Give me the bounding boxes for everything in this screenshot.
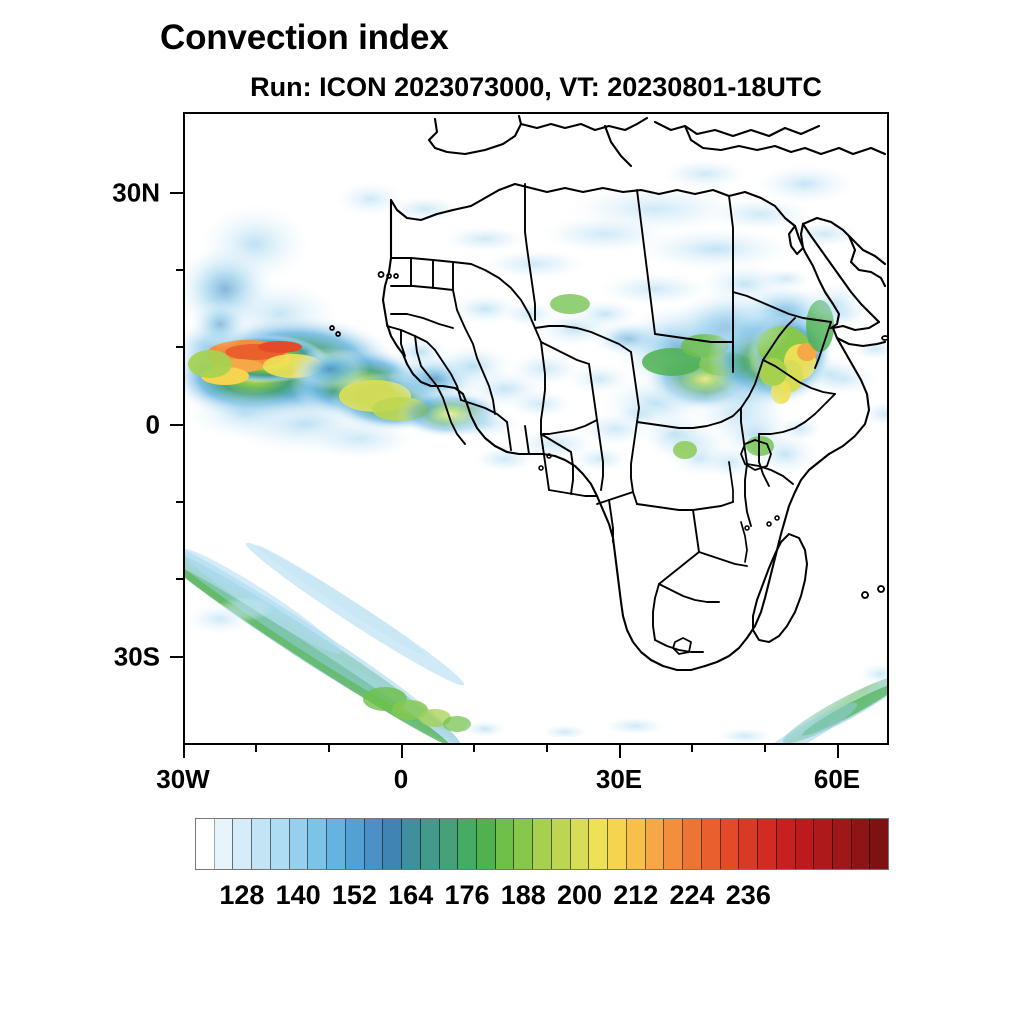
y-axis-label-0: 30N	[98, 178, 160, 209]
colorbar-cell-2	[233, 819, 252, 869]
colorbar-tick-128: 128	[219, 880, 264, 911]
colorbar-cell-4	[271, 819, 290, 869]
colorbar-cell-5	[290, 819, 309, 869]
x-axis-label-2: 30E	[596, 764, 642, 795]
colorbar-cell-25	[664, 819, 683, 869]
x-tick-minor-10E	[473, 745, 475, 752]
colorbar-cell-8	[346, 819, 365, 869]
colorbar-tick-152: 152	[332, 880, 377, 911]
colorbar-cell-1	[215, 819, 234, 869]
colorbar-tick-188: 188	[501, 880, 546, 911]
y-tick-minor-10S	[176, 501, 183, 503]
x-tick-minor-50E	[764, 745, 766, 752]
colorbar-tick-212: 212	[613, 880, 658, 911]
y-axis-label-1: 0	[98, 410, 160, 441]
y-tick-minor-20N	[176, 269, 183, 271]
x-axis-label-0: 30W	[156, 764, 209, 795]
map-plot-area[interactable]	[183, 112, 889, 745]
colorbar-cell-10	[383, 819, 402, 869]
colorbar-cell-23	[627, 819, 646, 869]
colorbar-cell-0	[196, 819, 215, 869]
colorbar-cell-29	[739, 819, 758, 869]
colorbar-cell-17	[514, 819, 533, 869]
field-south-atlantic-front	[185, 524, 507, 743]
x-tick-minor-20W	[255, 745, 257, 752]
colorbar-cell-12	[421, 819, 440, 869]
colorbar-cell-9	[365, 819, 384, 869]
colorbar-cell-33	[814, 819, 833, 869]
colorbar-tick-236: 236	[726, 880, 771, 911]
colorbar-cell-26	[683, 819, 702, 869]
y-tick-major-30S	[170, 656, 183, 658]
colorbar-cell-11	[402, 819, 421, 869]
colorbar-cell-24	[646, 819, 665, 869]
colorbar[interactable]	[195, 818, 889, 870]
colorbar-cell-16	[496, 819, 515, 869]
map-canvas	[185, 114, 887, 743]
x-tick-major-0	[401, 745, 403, 758]
x-tick-major-60E	[837, 745, 839, 758]
x-axis-label-1: 0	[394, 764, 408, 795]
colorbar-tick-164: 164	[388, 880, 433, 911]
colorbar-tick-176: 176	[444, 880, 489, 911]
colorbar-cell-35	[852, 819, 871, 869]
colorbar-cell-20	[571, 819, 590, 869]
convection-index-field	[185, 158, 887, 743]
x-tick-major-30W	[183, 745, 185, 758]
colorbar-tick-200: 200	[557, 880, 602, 911]
figure-subtitle: Run: ICON 2023073000, VT: 20230801-18UTC	[183, 72, 889, 103]
colorbar-cell-32	[796, 819, 815, 869]
colorbar-cell-30	[758, 819, 777, 869]
y-tick-major-0	[170, 424, 183, 426]
colorbar-cell-28	[721, 819, 740, 869]
colorbar-cell-18	[533, 819, 552, 869]
colorbar-cell-7	[327, 819, 346, 869]
x-tick-minor-10W	[328, 745, 330, 752]
y-tick-minor-20S	[176, 578, 183, 580]
colorbar-cell-3	[252, 819, 271, 869]
colorbar-cell-31	[777, 819, 796, 869]
x-tick-major-30E	[619, 745, 621, 758]
colorbar-cell-36	[870, 819, 888, 869]
colorbar-cell-27	[702, 819, 721, 869]
page-title: Convection index	[160, 18, 449, 58]
convection-index-figure: Convection index Run: ICON 2023073000, V…	[0, 0, 1024, 1024]
y-tick-major-30N	[170, 192, 183, 194]
colorbar-tick-224: 224	[670, 880, 715, 911]
x-tick-minor-20E	[546, 745, 548, 752]
colorbar-cell-15	[477, 819, 496, 869]
x-tick-minor-40E	[691, 745, 693, 752]
colorbar-cell-14	[458, 819, 477, 869]
colorbar-cell-19	[552, 819, 571, 869]
colorbar-cell-6	[308, 819, 327, 869]
colorbar-cell-13	[440, 819, 459, 869]
y-axis-label-2: 30S	[98, 642, 160, 673]
colorbar-cell-34	[833, 819, 852, 869]
colorbar-cell-21	[589, 819, 608, 869]
colorbar-gradient[interactable]	[195, 818, 889, 870]
x-axis-label-3: 60E	[814, 764, 860, 795]
colorbar-tick-140: 140	[276, 880, 321, 911]
y-tick-minor-10N	[176, 346, 183, 348]
colorbar-cell-22	[608, 819, 627, 869]
